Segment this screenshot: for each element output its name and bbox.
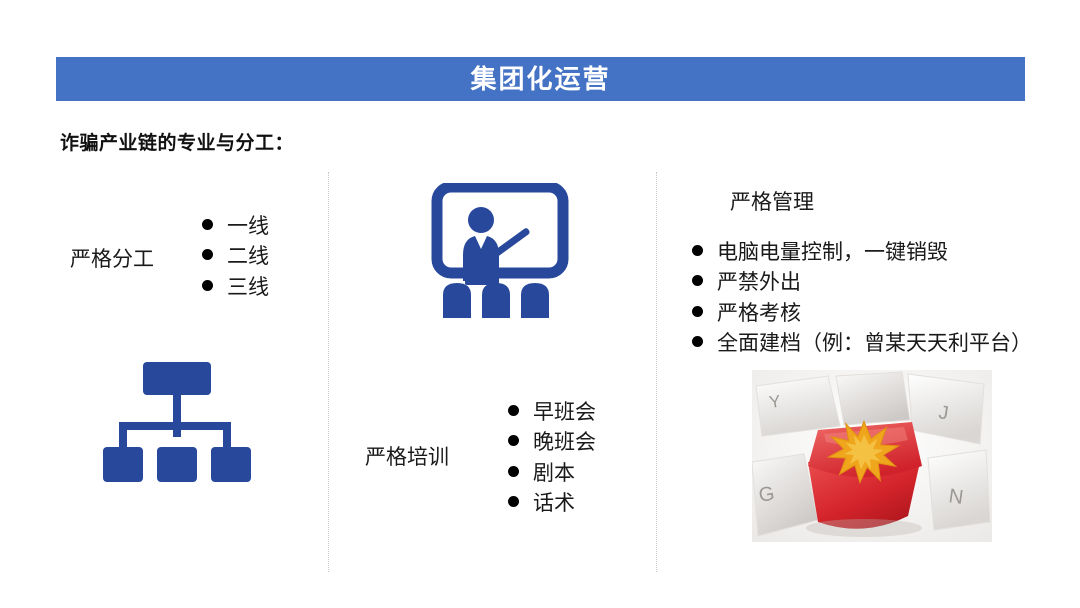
list-item-label: 一线 [227,212,269,242]
red-destruct-key-photo: Y J G N [752,370,992,542]
list-item-label: 严格考核 [717,299,801,329]
column-label-strict-management: 严格管理 [730,186,814,216]
list-item: 二线 [202,242,269,272]
list-item: 一线 [202,212,269,242]
bullet-list-management: 电脑电量控制，一键销毁 严禁外出 严格考核 全面建档（例：曾某天天利平台） [692,238,1032,360]
list-item-label: 二线 [227,242,269,272]
slide-title-bar: 集团化运营 [56,57,1025,101]
org-chart-connector-horizontal [119,422,231,430]
bullet-dot-icon [508,466,519,477]
list-item-label: 三线 [227,273,269,303]
bullet-dot-icon [692,245,703,256]
list-item: 晚班会 [508,428,596,458]
list-item-label: 剧本 [533,459,575,489]
bullet-dot-icon [508,405,519,416]
org-chart-connector-left [119,422,127,448]
list-item-label: 严禁外出 [717,268,801,298]
list-item: 三线 [202,273,269,303]
page-title: 集团化运营 [470,66,610,92]
list-item: 剧本 [508,459,596,489]
list-item-label: 电脑电量控制，一键销毁 [717,238,948,268]
bullet-dot-icon [692,336,703,347]
bullet-dot-icon [202,249,213,260]
list-item: 严禁外出 [692,268,1032,298]
list-item-label: 话术 [533,489,575,519]
column-divider-left [328,172,329,572]
bullet-dot-icon [508,496,519,507]
list-item-label: 早班会 [533,398,596,428]
column-label-strict-division: 严格分工 [70,243,154,273]
bullet-list-division: 一线 二线 三线 [202,212,269,303]
list-item: 早班会 [508,398,596,428]
slide-subtitle: 诈骗产业链的专业与分工： [60,128,294,155]
bullet-dot-icon [692,275,703,286]
list-item: 严格考核 [692,299,1032,329]
org-chart-connector-right [223,422,231,448]
org-chart-child-node [103,447,143,482]
bullet-dot-icon [202,280,213,291]
list-item: 全面建档（例：曾某天天利平台） [692,329,1032,359]
bullet-dot-icon [202,219,213,230]
list-item: 电脑电量控制，一键销毁 [692,238,1032,268]
list-item-label: 全面建档（例：曾某天天利平台） [717,329,1032,359]
org-chart-child-node [157,447,197,482]
org-chart-connector-vertical [173,395,181,437]
bullet-dot-icon [692,306,703,317]
svg-text:N: N [947,485,964,509]
list-item-label: 晚班会 [533,428,596,458]
org-chart-child-node [211,447,251,482]
bullet-list-training: 早班会 晚班会 剧本 话术 [508,398,596,520]
column-label-strict-training: 严格培训 [365,441,449,471]
training-classroom-icon [425,183,575,318]
column-divider-right [656,172,657,572]
bullet-dot-icon [508,435,519,446]
list-item: 话术 [508,489,596,519]
org-chart-parent-node [143,362,211,395]
org-chart-diagram [95,362,265,482]
